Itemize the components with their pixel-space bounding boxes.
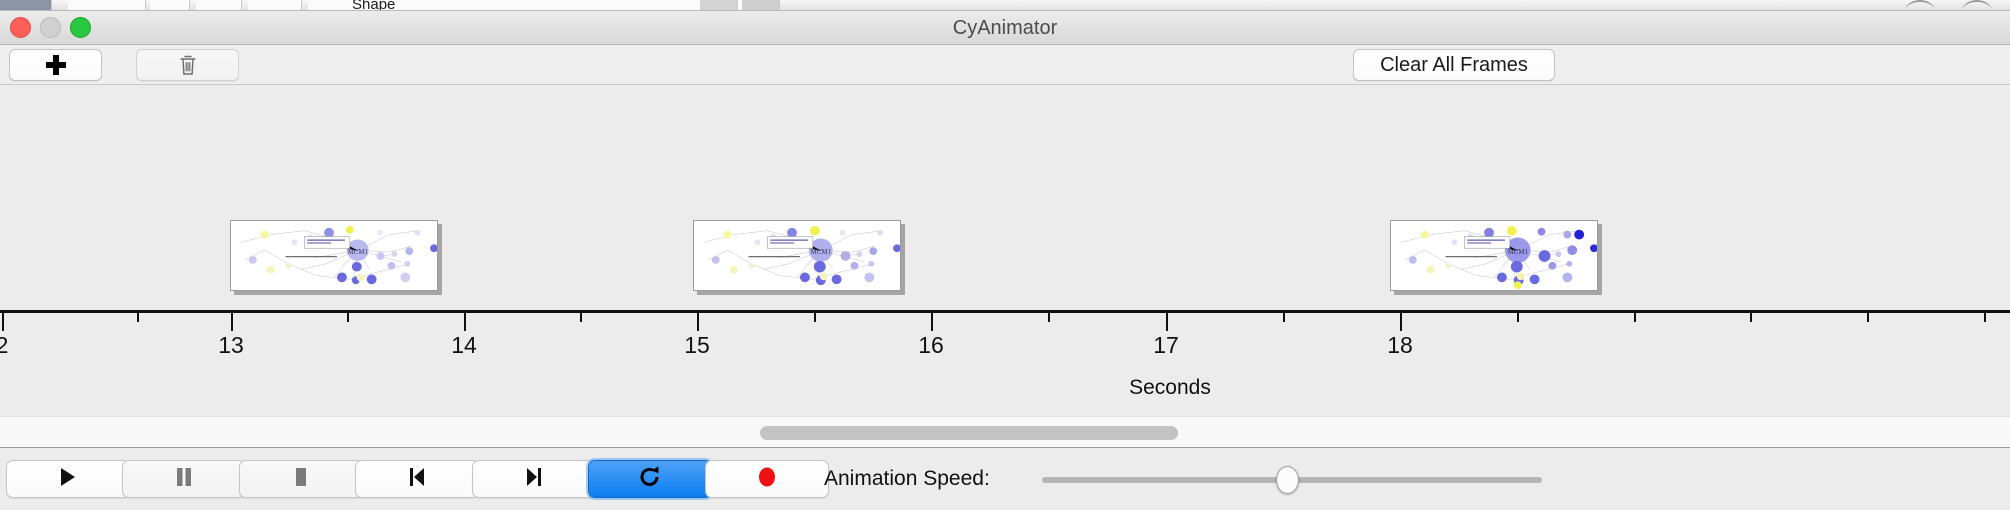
timeline-panel[interactable]: MCM1: [0, 86, 2010, 416]
ruler-tick: [580, 313, 582, 322]
play-icon: [58, 466, 78, 493]
svg-text:MCM1: MCM1: [348, 249, 369, 256]
frame-thumbnail-2[interactable]: MCM1: [693, 220, 901, 291]
ruler-tick: [347, 313, 349, 322]
record-button[interactable]: [705, 460, 829, 498]
bg-window-arc: [1905, 0, 1935, 11]
ruler-tick: [231, 313, 233, 331]
horizontal-scrollbar[interactable]: [0, 416, 2010, 448]
ruler-tick-label: 14: [451, 332, 477, 359]
loop-icon: [638, 465, 662, 494]
play-button[interactable]: [6, 460, 130, 498]
skip-forward-icon: [524, 466, 544, 493]
timeline-ruler[interactable]: 2131415161718: [0, 310, 2010, 376]
toolbar: Clear All Frames: [0, 45, 2010, 85]
ruler-tick: [1048, 313, 1050, 322]
stop-button[interactable]: [239, 460, 363, 498]
loop-button[interactable]: [588, 460, 712, 498]
title-bar: CyAnimator: [0, 11, 2010, 45]
bg-window-tab: [248, 0, 302, 11]
ruler-tick: [1867, 313, 1869, 322]
ruler-tick: [1400, 313, 1402, 331]
add-frame-button[interactable]: [9, 49, 102, 81]
ruler-tick-label: 2: [0, 332, 8, 359]
animation-speed-slider-thumb[interactable]: [1276, 466, 1299, 494]
clear-all-frames-button[interactable]: Clear All Frames: [1353, 49, 1555, 81]
ruler-tick-label: 13: [218, 332, 244, 359]
bg-window-tab: [742, 0, 780, 11]
ruler-tick-label: 18: [1387, 332, 1413, 359]
ruler-tick: [1634, 313, 1636, 322]
ruler-tick: [697, 313, 699, 331]
next-frame-button[interactable]: [472, 460, 596, 498]
bg-window-tab: [196, 0, 242, 11]
bg-window-arc: [1962, 0, 1992, 11]
pause-icon: [175, 466, 193, 493]
bg-window-label: Shape: [352, 0, 395, 11]
svg-text:MCM1: MCM1: [1508, 249, 1529, 256]
delete-frame-button[interactable]: [136, 49, 239, 81]
animation-speed-slider[interactable]: [1042, 477, 1542, 483]
trash-icon: [179, 54, 197, 76]
pause-button[interactable]: [122, 460, 246, 498]
playback-control-bar: Animation Speed:: [0, 449, 2010, 510]
ruler-baseline: [0, 310, 2010, 313]
ruler-tick: [931, 313, 933, 331]
previous-frame-button[interactable]: [355, 460, 479, 498]
ruler-tick: [1984, 313, 1986, 322]
bg-window-tab: [700, 0, 738, 11]
animation-speed-label: Animation Speed:: [824, 460, 990, 498]
plus-icon: [46, 55, 66, 75]
ruler-tick-label: 16: [918, 332, 944, 359]
frame-thumbnail-3[interactable]: MCM1: [1390, 220, 1598, 291]
scrollbar-thumb[interactable]: [760, 426, 1178, 440]
bg-window-selected-tab: [0, 0, 52, 11]
ruler-tick: [1750, 313, 1752, 322]
ruler-tick: [464, 313, 466, 331]
frame-thumbnail-1[interactable]: MCM1: [230, 220, 438, 291]
ruler-tick-label: 17: [1153, 332, 1179, 359]
record-icon: [756, 465, 778, 494]
ruler-tick: [1517, 313, 1519, 322]
ruler-tick: [1166, 313, 1168, 331]
background-window: Shape: [0, 0, 2010, 11]
ruler-tick: [1283, 313, 1285, 322]
axis-title: Seconds: [0, 376, 2010, 400]
bg-window-tab: [68, 0, 146, 11]
frames-track[interactable]: MCM1: [0, 86, 2010, 310]
ruler-tick: [137, 313, 139, 322]
stop-icon: [292, 466, 310, 493]
window-title: CyAnimator: [0, 11, 2010, 45]
bg-window-tab: [150, 0, 190, 11]
ruler-tick: [814, 313, 816, 322]
skip-back-icon: [407, 466, 427, 493]
ruler-tick: [2, 313, 4, 331]
svg-text:MCM1: MCM1: [811, 249, 832, 256]
ruler-tick-label: 15: [684, 332, 710, 359]
axis-title-label: Seconds: [1129, 376, 1211, 400]
